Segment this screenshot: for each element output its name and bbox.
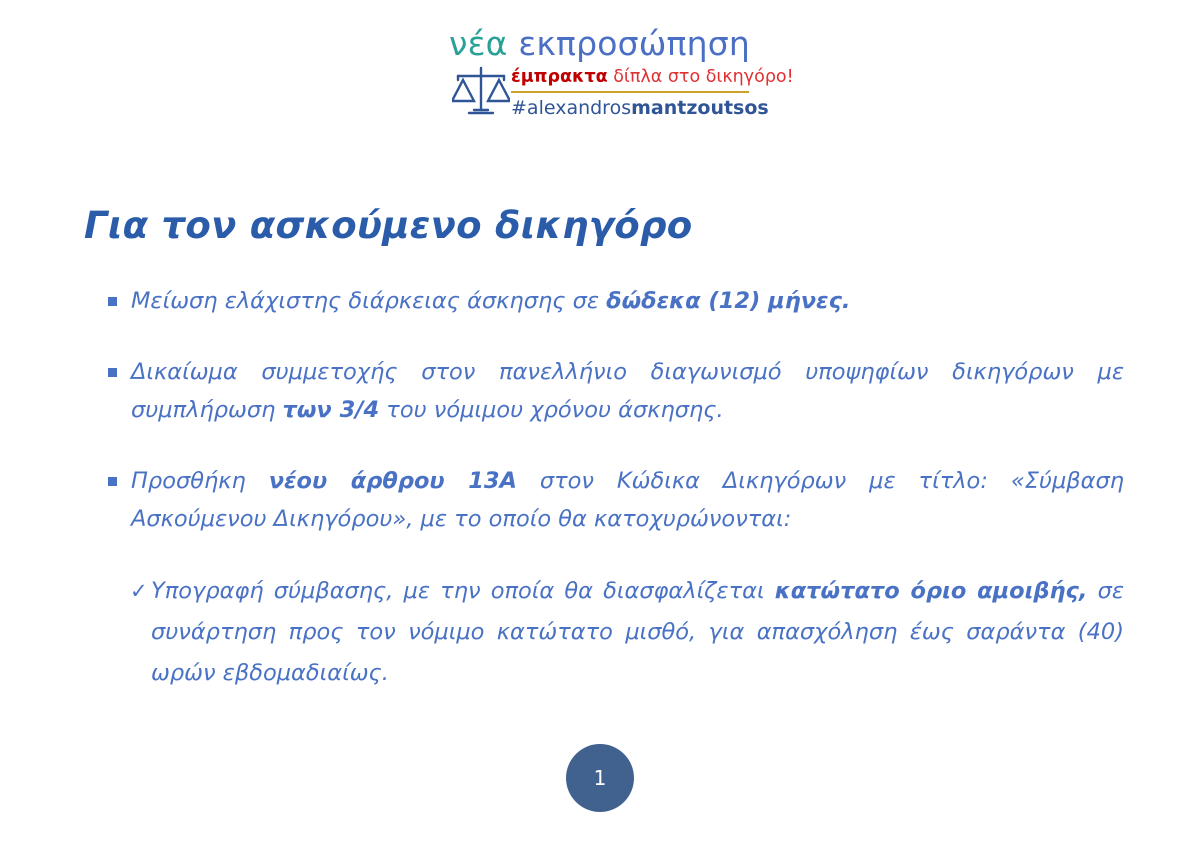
sub-bullet-item: ✓ Υπογραφή σύμβασης, με την οποία θα δια… <box>130 571 1124 694</box>
bullet-item: Προσθήκη νέου άρθρου 13Α στον Κώδικα Δικ… <box>104 462 1124 538</box>
square-bullet-icon <box>108 297 117 306</box>
logo-tagline: έμπρακτα δίπλα στο δικηγόρο! <box>511 65 766 89</box>
bullet-text: Προσθήκη νέου άρθρου 13Α στον Κώδικα Δικ… <box>131 468 1124 532</box>
brand-logo: νέα εκπροσώπηση έμπρακτα δίπλα στο δικηγ… <box>449 25 769 130</box>
presentation-slide: νέα εκπροσώπηση έμπρακτα δίπλα στο δικηγ… <box>0 0 1200 849</box>
sub-bullet-text: Υπογραφή σύμβασης, με την οποία θα διασφ… <box>151 578 1124 686</box>
logo-tagline-rest: δίπλα στο δικηγόρο! <box>608 67 794 87</box>
logo-hashtag-first: #alexandros <box>511 97 631 119</box>
scales-of-justice-icon <box>452 63 510 121</box>
slide-title: Για τον ασκούμενο δικηγόρο <box>84 203 692 249</box>
bullet-item: Δικαίωμα συμμετοχής στον πανελλήνιο διαγ… <box>104 353 1124 429</box>
logo-wordmark: νέα εκπροσώπηση <box>449 25 750 63</box>
logo-word-nea: νέα <box>449 24 508 63</box>
slide-body: Μείωση ελάχιστης διάρκειας άσκησης σε δώ… <box>104 282 1124 694</box>
bullet-text: Δικαίωμα συμμετοχής στον πανελλήνιο διαγ… <box>131 359 1124 423</box>
bullet-text: Μείωση ελάχιστης διάρκειας άσκησης σε δώ… <box>131 288 850 314</box>
bullet-item: Μείωση ελάχιστης διάρκειας άσκησης σε δώ… <box>104 282 1124 320</box>
logo-divider <box>511 91 749 93</box>
logo-word-ekprosopisi: εκπροσώπηση <box>508 24 750 63</box>
logo-text-block: έμπρακτα δίπλα στο δικηγόρο! #alexandros… <box>511 65 766 120</box>
page-number-badge: 1 <box>566 744 634 812</box>
logo-tagline-bold: έμπρακτα <box>511 67 608 87</box>
logo-hashtag: #alexandrosmantzoutsos <box>511 96 766 120</box>
square-bullet-icon <box>108 477 117 486</box>
logo-hashtag-last: mantzoutsos <box>631 97 769 119</box>
checkmark-icon: ✓ <box>130 571 148 612</box>
square-bullet-icon <box>108 368 117 377</box>
